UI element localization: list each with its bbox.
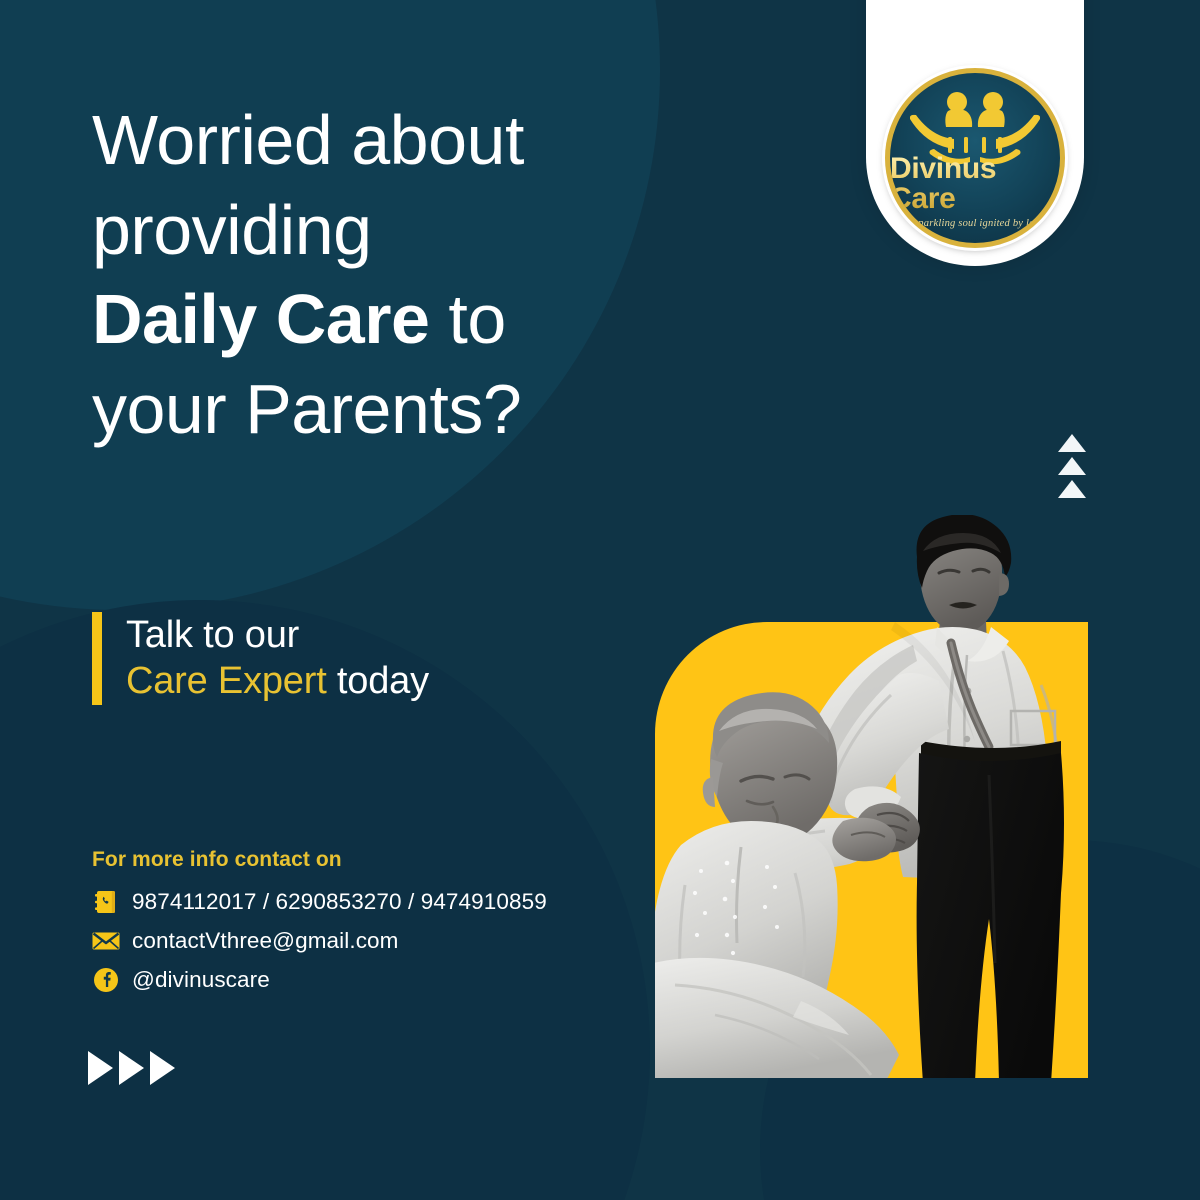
subheadline-line-2: Care Expert today	[126, 658, 429, 704]
contact-email-value: contactVthree@gmail.com	[132, 928, 399, 954]
triangle-right-icon	[150, 1051, 175, 1085]
triangle-right-icon	[119, 1051, 144, 1085]
triangle-up-group	[1058, 434, 1086, 498]
subheadline-block: Talk to our Care Expert today	[92, 612, 429, 705]
logo-tagline: a sparkling soul ignited by love	[906, 218, 1045, 229]
accent-bar	[92, 612, 102, 705]
subheadline-text: Talk to our Care Expert today	[126, 612, 429, 705]
facebook-icon	[92, 966, 120, 994]
poster-canvas: Divinus Care a sparkling soul ignited by…	[0, 0, 1200, 1200]
contact-row-phone[interactable]: 9874112017 / 6290853270 / 9474910859	[92, 888, 547, 916]
contact-row-email[interactable]: contactVthree@gmail.com	[92, 927, 547, 955]
headline-line-3-rest: to	[429, 280, 505, 358]
headline-emphasis: Daily Care	[92, 280, 429, 358]
headline-line-4: your Parents?	[92, 365, 732, 455]
headline-line-3: Daily Care to	[92, 275, 732, 365]
photo-stage	[655, 515, 1088, 1078]
caregiver-elderly-photo	[655, 515, 1088, 1078]
logo-name: Divinus Care	[890, 154, 1060, 214]
headline-line-2: providing	[92, 186, 732, 276]
triangle-up-icon	[1058, 480, 1086, 498]
subheadline-accent: Care Expert	[126, 660, 327, 702]
phone-book-icon	[92, 888, 120, 916]
contact-block: For more info contact on 9874112017 / 62…	[92, 848, 547, 1005]
triangle-up-icon	[1058, 457, 1086, 475]
contact-row-facebook[interactable]: @divinuscare	[92, 966, 547, 994]
headline: Worried about providing Daily Care to yo…	[92, 96, 732, 454]
triangle-up-icon	[1058, 434, 1086, 452]
subheadline-line-2-rest: today	[327, 660, 429, 702]
headline-line-1: Worried about	[92, 96, 732, 186]
logo-disc: Divinus Care a sparkling soul ignited by…	[885, 68, 1065, 248]
triangle-right-icon	[88, 1051, 113, 1085]
contact-title: For more info contact on	[92, 848, 547, 872]
subheadline-line-1: Talk to our	[126, 612, 429, 658]
contact-phone-value: 9874112017 / 6290853270 / 9474910859	[132, 889, 547, 915]
triangle-right-group	[88, 1051, 175, 1085]
contact-facebook-value: @divinuscare	[132, 967, 270, 993]
logo-badge[interactable]: Divinus Care a sparkling soul ignited by…	[866, 0, 1084, 266]
envelope-icon	[92, 927, 120, 955]
